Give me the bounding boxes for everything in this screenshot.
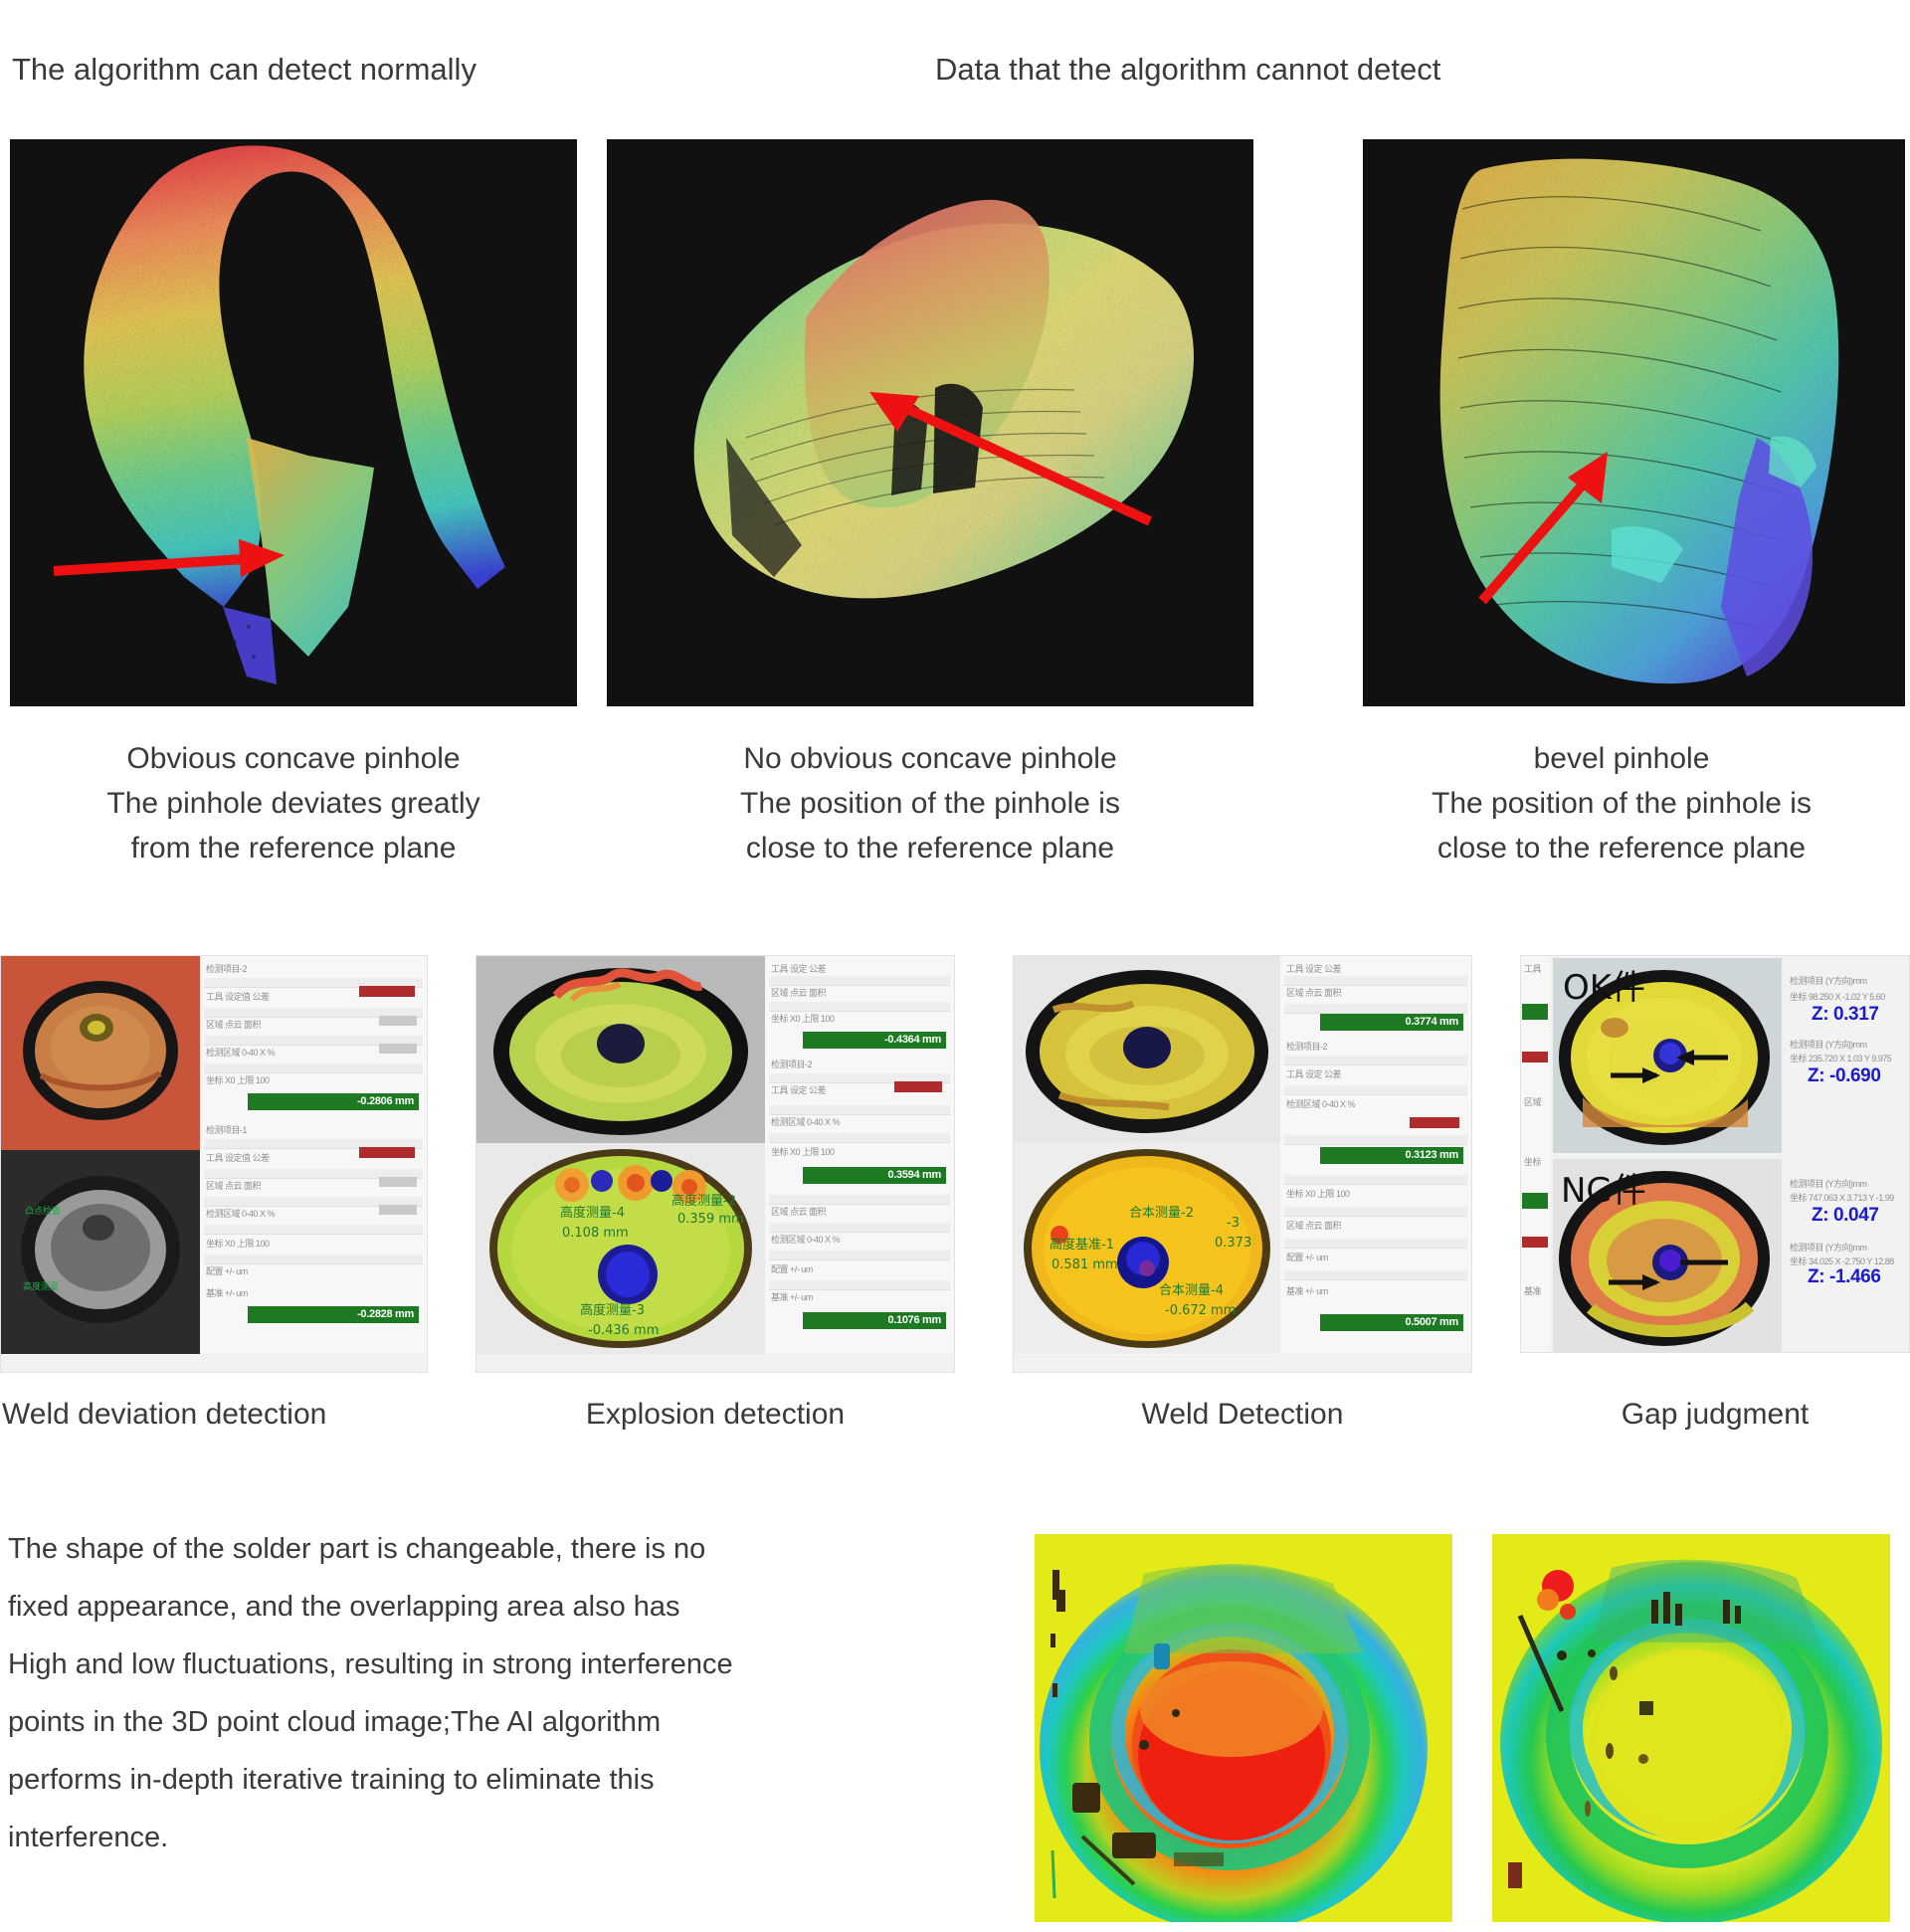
svg-text:凸点检查: 凸点检查 [25, 1205, 61, 1217]
caption-line: The pinhole deviates greatly [10, 781, 577, 826]
summary-row: The shape of the solder part is changeab… [0, 1512, 1910, 1930]
hmi-field-label: 坐标 98.250 X -1.02 Y 5.60 [1790, 990, 1885, 1003]
red-arrow-icon-2 [836, 388, 1154, 527]
hmi-field-label: 基准 [1524, 1284, 1541, 1297]
hmi-sidebar-2: 工具 设定 公差 区域 点云 面积 坐标 X0 上限 100 -0.4364 m… [765, 956, 954, 1354]
hmi-field-label: 基准 +/- um [1286, 1284, 1328, 1297]
hmi-alarm-chip [359, 1147, 415, 1158]
inspection-screenshot-weld-detection: 高度基准-1 0.581 mm 合本测量-2 -3 0.373 合本测量-4 -… [1013, 955, 1472, 1373]
explosion-image-bottom: 高度测量-4 0.108 mm 高度测量-2 0.359 mm 高度测量-3 -… [477, 1143, 765, 1354]
heatmap-solder-hot-center [1035, 1534, 1452, 1922]
red-arrow-icon-3 [1462, 448, 1631, 607]
hmi-alarm-chip [1410, 1117, 1459, 1128]
label-weld-deviation-detection: Weld deviation detection [0, 1393, 430, 1437]
hmi-field-label: 检测项目-2 [1286, 1040, 1327, 1053]
weld-image-gray: 凸点检查 高度测量 [1, 1150, 200, 1354]
summary-paragraph: The shape of the solder part is changeab… [8, 1520, 1013, 1866]
hmi-alarm-chip [894, 1081, 942, 1092]
hmi-field-label: 工具 设定 公差 [771, 962, 826, 975]
caption-line: The position of the pinhole is [1333, 781, 1910, 826]
hmi-field-label: 检测区域 0-40 X % [1286, 1097, 1355, 1110]
hmi-field-label: 检测区域 0-40 X % [771, 1115, 840, 1128]
hmi-field-label: 坐标 747.063 X 3.713 Y -1.99 [1790, 1191, 1894, 1204]
hmi-alarm-chip [359, 986, 415, 997]
hmi-field-label: 区域 点云 面积 [1286, 986, 1341, 999]
hmi-field-label: 工具 设定 公差 [771, 1083, 826, 1096]
hmi-field-label: 检测区域 0-40 X % [206, 1046, 275, 1059]
hmi-field-label: 基准 +/- um [771, 1290, 813, 1303]
weld-detection-image-top [1014, 956, 1280, 1143]
pointcloud-panel-no-obvious-concave-pinhole [607, 139, 1253, 706]
z-value-ng-2: Z: -1.466 [1808, 1266, 1881, 1288]
hmi-field-label: 检测项目 (Y方向)mm [1790, 974, 1867, 987]
measurement-value-2: -0.2828 mm [248, 1306, 419, 1323]
hmi-field-label: 坐标 X0 上限 100 [206, 1237, 270, 1250]
hmi-sidebar-3: 工具 设定 公差 区域 点云 面积 0.3774 mm 检测项目-2 工具 设定… [1280, 956, 1471, 1354]
hmi-field-label: 检测项目 (Y方向)mm [1790, 1241, 1867, 1254]
heatmap-render-2 [1492, 1534, 1890, 1922]
svg-text:-0.436 mm: -0.436 mm [588, 1323, 659, 1338]
measurement-value-2: 0.3594 mm [803, 1167, 946, 1184]
pointcloud-render-3 [1363, 139, 1905, 706]
pointcloud-render-1 [10, 139, 577, 706]
inspection-screenshot-gap-judgment: 工具 区域 坐标 基准 OK件 Z: 0.317 [1520, 955, 1910, 1353]
heatmap-render-1 [1035, 1534, 1452, 1922]
hmi-field-label: 坐标 X0 上限 100 [771, 1012, 835, 1025]
hmi-field-label: 检测项目-2 [206, 962, 247, 975]
inspection-screenshot-weld-deviation-detection: 凸点检查 高度测量 检测项目-2 工具 设定值 公差 区域 点云 面积 检测区域… [0, 955, 428, 1373]
svg-text:0.581 mm: 0.581 mm [1051, 1257, 1118, 1272]
measurement-value-3: 0.1076 mm [803, 1312, 946, 1329]
hmi-sidebar-1: 检测项目-2 工具 设定值 公差 区域 点云 面积 检测区域 0-40 X % … [200, 956, 427, 1354]
svg-text:合本测量-4: 合本测量-4 [1159, 1283, 1224, 1298]
svg-text:0.359 mm: 0.359 mm [677, 1212, 744, 1227]
verdict-ng: NG件 [1561, 1163, 1646, 1212]
inspection-labels: Weld deviation detection Explosion detec… [0, 1393, 1910, 1443]
caption-line: bevel pinhole [1333, 736, 1910, 781]
caption-bevel-pinhole: bevel pinhole The position of the pinhol… [1333, 736, 1910, 870]
paragraph-line: performs in-depth iterative training to … [8, 1751, 1013, 1809]
heatmap-solder-flat-center [1492, 1534, 1890, 1922]
hmi-field-label: 坐标 X0 上限 100 [206, 1073, 270, 1086]
hmi-field-label: 工具 设定 公差 [1286, 962, 1341, 975]
header-undetectable: Data that the algorithm cannot detect [935, 48, 1440, 92]
hmi-ok-chip [1522, 1193, 1548, 1209]
svg-text:0.373: 0.373 [1215, 1236, 1251, 1251]
label-weld-detection: Weld Detection [1013, 1393, 1472, 1437]
hmi-field-label: 工具 设定值 公差 [206, 1151, 270, 1164]
caption-line: close to the reference plane [597, 826, 1263, 870]
measurement-value-1: 0.3774 mm [1320, 1014, 1463, 1031]
hmi-field-label: 坐标 235.720 X 1.03 Y 9.975 [1790, 1052, 1891, 1064]
hmi-field-label: 坐标 [1524, 1155, 1541, 1168]
svg-text:高度测量-3: 高度测量-3 [580, 1302, 645, 1318]
pointcloud-row [0, 139, 1910, 716]
paragraph-line: fixed appearance, and the overlapping ar… [8, 1578, 1013, 1636]
measurement-value-1: -0.2806 mm [248, 1093, 419, 1110]
hmi-field-label: 基准 +/- um [206, 1286, 248, 1299]
hmi-field-label: 区域 点云 面积 [771, 986, 826, 999]
hmi-field-label: 配置 +/- um [1286, 1251, 1328, 1263]
paragraph-line: High and low fluctuations, resulting in … [8, 1636, 1013, 1693]
caption-line: Obvious concave pinhole [10, 736, 577, 781]
hmi-field-label: 区域 点云 面积 [206, 1179, 261, 1192]
z-value-ok-2: Z: -0.690 [1808, 1065, 1881, 1087]
z-value-ng-1: Z: 0.047 [1812, 1205, 1879, 1227]
caption-obvious-concave-pinhole: Obvious concave pinhole The pinhole devi… [10, 736, 577, 870]
caption-line: close to the reference plane [1333, 826, 1910, 870]
inspection-row: 凸点检查 高度测量 检测项目-2 工具 设定值 公差 区域 点云 面积 检测区域… [0, 955, 1910, 1373]
label-gap-judgment: Gap judgment [1520, 1393, 1910, 1437]
measurement-value-1: -0.4364 mm [803, 1032, 946, 1049]
caption-line: No obvious concave pinhole [597, 736, 1263, 781]
pointcloud-panel-obvious-concave-pinhole [10, 139, 577, 706]
svg-text:高度测量-2: 高度测量-2 [671, 1193, 736, 1209]
hmi-ok-chip [1522, 1004, 1548, 1020]
paragraph-line: The shape of the solder part is changeab… [8, 1520, 1013, 1578]
header-detectable: The algorithm can detect normally [12, 48, 477, 92]
hmi-field-label: 检测项目 (Y方向)mm [1790, 1177, 1867, 1190]
section-headers: The algorithm can detect normally Data t… [0, 48, 1910, 92]
label-explosion-detection: Explosion detection [476, 1393, 955, 1437]
red-arrow-icon-1 [50, 537, 288, 597]
hmi-field-label: 检测项目-2 [771, 1058, 812, 1070]
hmi-alarm-chip [1522, 1237, 1548, 1248]
explosion-image-top [477, 956, 765, 1143]
svg-text:高度基准-1: 高度基准-1 [1050, 1237, 1114, 1253]
hmi-field-label: 坐标 X0 上限 100 [1286, 1187, 1350, 1200]
z-value-ok-1: Z: 0.317 [1812, 1004, 1879, 1026]
paragraph-line: interference. [8, 1809, 1013, 1866]
pointcloud-panel-bevel-pinhole [1363, 139, 1905, 706]
hmi-field-label: 配置 +/- um [771, 1262, 813, 1275]
paragraph-line: points in the 3D point cloud image;The A… [8, 1693, 1013, 1751]
caption-line: from the reference plane [10, 826, 577, 870]
svg-text:高度测量: 高度测量 [23, 1280, 59, 1292]
hmi-alarm-chip [1522, 1052, 1548, 1063]
hmi-sidebar-4: 工具 区域 坐标 基准 [1521, 956, 1549, 1353]
weld-detection-image-bottom: 高度基准-1 0.581 mm 合本测量-2 -3 0.373 合本测量-4 -… [1014, 1143, 1280, 1354]
hmi-field-label: 区域 点云 面积 [771, 1205, 826, 1218]
svg-text:-3: -3 [1227, 1216, 1240, 1231]
svg-text:0.108 mm: 0.108 mm [562, 1226, 629, 1241]
svg-text:合本测量-2: 合本测量-2 [1129, 1206, 1194, 1221]
hmi-field-label: 检测项目 (Y方向)mm [1790, 1038, 1867, 1051]
measurement-value-2: 0.3123 mm [1320, 1147, 1463, 1164]
pointcloud-captions: Obvious concave pinhole The pinhole devi… [0, 736, 1910, 885]
inspection-screenshot-explosion-detection: 高度测量-4 0.108 mm 高度测量-2 0.359 mm 高度测量-3 -… [476, 955, 955, 1373]
hmi-field-label: 区域 点云 面积 [206, 1018, 261, 1031]
svg-text:-0.672 mm: -0.672 mm [1165, 1303, 1236, 1318]
hmi-field-label: 区域 [1524, 1095, 1541, 1108]
weld-image-color [1, 956, 200, 1150]
hmi-field-label: 检测区域 0-40 X % [206, 1207, 275, 1220]
caption-no-obvious-concave-pinhole: No obvious concave pinhole The position … [597, 736, 1263, 870]
hmi-field-label: 工具 设定值 公差 [206, 990, 270, 1003]
svg-text:高度测量-4: 高度测量-4 [560, 1205, 625, 1221]
hmi-field-label: 工具 设定 公差 [1286, 1067, 1341, 1080]
caption-line: The position of the pinhole is [597, 781, 1263, 826]
measurement-value-3: 0.5007 mm [1320, 1314, 1463, 1331]
hmi-field-label: 工具 [1524, 962, 1541, 975]
hmi-field-label: 坐标 34.025 X -2.750 Y 12.88 [1790, 1255, 1894, 1267]
hmi-field-label: 坐标 X0 上限 100 [771, 1145, 835, 1158]
hmi-field-label: 检测项目-1 [206, 1123, 247, 1136]
hmi-field-label: 检测区域 0-40 X % [771, 1233, 840, 1246]
hmi-field-label: 区域 点云 面积 [1286, 1219, 1341, 1232]
hmi-field-label: 配置 +/- um [206, 1264, 248, 1277]
verdict-ok: OK件 [1563, 960, 1645, 1009]
